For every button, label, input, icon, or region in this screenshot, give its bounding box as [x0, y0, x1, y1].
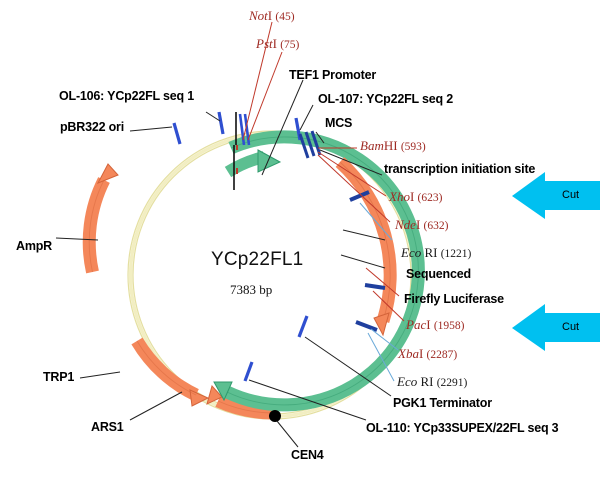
label-ol106: OL-106: YCp22FL seq 1 [59, 89, 194, 103]
label-sequenced: Sequenced [406, 267, 471, 281]
feature-arc-ampr [89, 164, 118, 272]
label-ars1: ARS1 [91, 420, 124, 434]
cut-label-bottom: Cut [562, 321, 579, 333]
cut-label-top: Cut [562, 189, 579, 201]
label-transcription-initiation-site: transcription initiation site [384, 162, 535, 176]
feature-arc-trp1 [137, 341, 208, 406]
label-pbr322-ori: pBR322 ori [60, 120, 124, 134]
restriction-site-noti: NotI (45) [249, 8, 295, 24]
restriction-site-ecori-1221: Eco RI (1221) [401, 245, 471, 261]
cut-arrow-top [512, 172, 600, 219]
restriction-site-paci: PacI (1958) [406, 317, 464, 333]
label-pgk1-terminator: PGK1 Terminator [393, 396, 492, 410]
page-title: YCp22FL1 [211, 249, 303, 271]
plasmid-size: 7383 bp [230, 282, 272, 298]
primer-ticks-lower [245, 316, 307, 381]
label-ampr: AmpR [16, 239, 52, 253]
restriction-site-ecori-2291: Eco RI (2291) [397, 374, 467, 390]
label-mcs: MCS [325, 116, 352, 130]
restriction-site-xbai: XbaI (2287) [398, 346, 457, 362]
label-ol107: OL-107: YCp22FL seq 2 [318, 92, 453, 106]
label-firefly-luciferase: Firefly Luciferase [404, 292, 504, 306]
label-trp1: TRP1 [43, 370, 74, 384]
cut-arrow-bottom [512, 304, 600, 351]
restriction-site-bamhi: BamHI (593) [360, 138, 426, 154]
feature-arc-tef1-promoter [228, 150, 280, 172]
label-cen4: CEN4 [291, 448, 324, 462]
restriction-site-psti: PstI (75) [256, 36, 299, 52]
restriction-site-ndei: NdeI (632) [395, 217, 448, 233]
plasmid-map-canvas: YCp22FL1 7383 bp NotI (45) PstI (75) Bam… [0, 0, 600, 482]
label-ol110: OL-110: YCp33SUPEX/22FL seq 3 [366, 421, 558, 435]
cen4-marker [269, 410, 281, 422]
restriction-site-xhoi: XhoI (623) [389, 189, 442, 205]
label-tef1-promoter: TEF1 Promoter [289, 68, 376, 82]
